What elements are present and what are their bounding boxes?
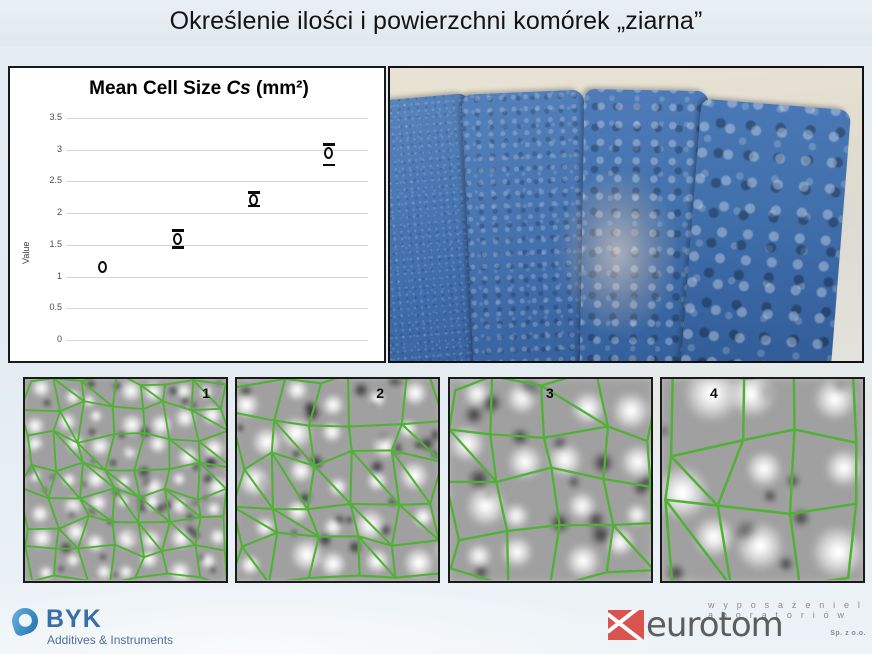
cell-boundary-line: [430, 462, 438, 504]
cell-boundary-line: [321, 379, 348, 383]
chart-title: Mean Cell Size Cs (mm²): [10, 78, 388, 100]
cell-boundary-line: [59, 529, 78, 549]
data-point-marker: [98, 261, 107, 273]
cell-boundary-line: [169, 439, 200, 462]
cell-boundary-line: [665, 500, 672, 580]
cell-boundary-line: [56, 471, 80, 498]
cell-boundary-line: [348, 379, 349, 427]
cell-boundary-line: [196, 517, 201, 545]
cell-boundary-line: [134, 469, 169, 471]
cell-boundary-line: [273, 509, 277, 533]
cell-boundary-line: [105, 434, 114, 470]
cell-boundary-line: [82, 379, 117, 381]
cell-boundary-line: [274, 379, 285, 421]
cell-boundary-line: [350, 451, 351, 504]
cell-boundary-line: [115, 545, 144, 558]
micrograph-panel-2: 2: [235, 377, 440, 583]
cell-boundary-line: [743, 379, 744, 440]
cell-boundary-line: [144, 551, 162, 557]
cell-boundary-line: [141, 385, 166, 386]
micrograph-label-2: 2: [376, 385, 384, 401]
cell-boundary-line: [143, 401, 163, 409]
cell-boundary-line: [718, 440, 744, 506]
cell-boundary-line: [117, 379, 141, 385]
cell-boundary-line: [237, 507, 277, 533]
cell-boundary-line: [201, 517, 224, 518]
cell-boundary-line: [54, 431, 57, 472]
cell-boundary-line: [272, 453, 273, 509]
chart-gridline: [66, 340, 368, 341]
cell-boundary-line: [309, 537, 319, 578]
micrograph-label-1: 1: [202, 385, 210, 401]
cell-boundary-line: [352, 450, 392, 451]
cell-boundary-line: [198, 463, 200, 500]
cell-boundary-line: [237, 547, 242, 580]
cell-boundary-line: [490, 379, 492, 434]
y-axis-tick: 3: [22, 144, 62, 154]
cell-boundary-line: [507, 531, 508, 580]
byk-logo: BYK Additives & Instruments: [10, 604, 250, 650]
cell-boundary-line: [315, 466, 351, 504]
cell-boundary-line: [135, 557, 144, 578]
cell-boundary-line: [140, 489, 165, 498]
cell-boundary-line: [163, 401, 169, 439]
cell-boundary-line: [665, 500, 731, 580]
cell-boundary-line: [647, 379, 651, 441]
cell-boundary-line: [360, 576, 396, 578]
micrograph-label-4: 4: [710, 385, 718, 401]
cell-boundary-line: [165, 469, 170, 489]
cell-boundary-line: [237, 469, 244, 506]
cell-boundary-line: [200, 577, 226, 580]
cell-boundary-line: [25, 487, 28, 530]
cell-boundary-line: [192, 409, 221, 411]
cell-boundary-line: [78, 549, 88, 580]
cell-boundary-line: [54, 549, 56, 576]
cell-boundary-line: [165, 489, 170, 522]
cell-boundary-line: [169, 439, 198, 441]
cell-boundary-line: [272, 421, 274, 453]
cell-boundary-line: [718, 506, 790, 514]
cell-boundary-line: [848, 504, 856, 578]
error-bar-upper-cap: [172, 229, 184, 232]
error-bar-upper-cap: [248, 191, 260, 194]
micrograph-panel-1: 1: [23, 377, 228, 583]
y-axis-tick: 0: [22, 334, 62, 344]
cell-boundary-line: [78, 401, 85, 443]
cell-boundary-line: [451, 569, 509, 581]
cell-boundary-line: [53, 379, 60, 411]
cell-boundary-line: [170, 517, 201, 522]
cell-boundary-line: [163, 401, 192, 410]
cell-boundary-line: [198, 489, 226, 500]
cell-boundary-line: [795, 430, 857, 443]
cell-boundary-line: [170, 463, 200, 470]
cell-boundary-line: [450, 482, 459, 540]
error-bar-upper-cap: [323, 143, 335, 146]
chart-gridline: [66, 245, 368, 246]
cell-boundary-line: [450, 430, 496, 483]
byk-droplet-icon: [9, 605, 42, 638]
cell-boundary-overlay: [662, 379, 863, 580]
cell-boundary-line: [224, 489, 226, 517]
cell-boundary-line: [165, 489, 198, 500]
cell-boundary-line: [496, 468, 551, 482]
cell-boundary-line: [613, 525, 651, 570]
cell-boundary-line: [237, 379, 285, 387]
cell-boundary-line: [349, 427, 352, 452]
cell-boundary-line: [544, 438, 551, 468]
cell-boundary-line: [244, 469, 273, 509]
cell-boundary-line: [274, 421, 309, 426]
cell-boundary-line: [790, 430, 795, 514]
cell-boundary-line: [269, 533, 277, 580]
y-axis-tick: 3.5: [22, 112, 62, 122]
cell-boundary-line: [141, 385, 144, 409]
cell-boundary-line: [451, 540, 459, 568]
cell-boundary-line: [459, 531, 507, 540]
cell-boundary-line: [790, 504, 856, 514]
cell-boundary-line: [193, 380, 226, 384]
cell-boundary-line: [551, 468, 559, 525]
y-axis-tick: 2.5: [22, 175, 62, 185]
cell-boundary-line: [80, 488, 115, 498]
error-bar-lower-cap: [248, 205, 260, 208]
cell-boundary-line: [138, 522, 170, 523]
cell-boundary-line: [349, 424, 402, 426]
cell-boundary-line: [671, 440, 743, 456]
cell-boundary-line: [110, 578, 135, 580]
cell-boundary-line: [550, 525, 560, 580]
cell-boundary-line: [56, 529, 59, 549]
cell-boundary-line: [794, 379, 795, 430]
cell-boundary-line: [54, 411, 61, 431]
cell-boundary-line: [603, 479, 650, 487]
chart-title-symbol: Cs: [226, 78, 250, 99]
eurotom-wordmark: eurotom: [646, 605, 783, 645]
chart-gridline: [66, 118, 368, 119]
cell-boundary-line: [450, 391, 455, 430]
cell-boundary-line: [48, 498, 59, 528]
cell-boundary-line: [54, 575, 88, 580]
cell-boundary-line: [192, 410, 226, 430]
cell-boundary-line: [25, 546, 32, 580]
cell-boundary-line: [551, 468, 603, 479]
y-axis-tick: 2: [22, 207, 62, 217]
chart-plot-area: 00.511.522.533.5Sample1Sample2Sample3Sam…: [66, 118, 368, 340]
cell-boundary-line: [402, 421, 438, 424]
cell-boundary-line: [242, 547, 269, 580]
y-axis-tick: 1.5: [22, 239, 62, 249]
coating-plate-2: [462, 89, 597, 363]
chart-panel: Mean Cell Size Cs (mm²) Value 00.511.522…: [8, 66, 386, 363]
chart-title-main: Mean Cell Size: [89, 78, 226, 99]
cell-boundary-line: [225, 551, 226, 580]
plate-4-texture: [679, 99, 851, 363]
cell-boundary-line: [138, 497, 140, 522]
cell-boundary-line: [309, 383, 321, 425]
cell-boundary-line: [162, 545, 196, 551]
page-title: Określenie ilości i powierzchni komórek …: [0, 7, 872, 36]
cell-boundary-line: [308, 466, 315, 509]
y-axis-tick: 1: [22, 271, 62, 281]
cell-boundary-line: [392, 505, 400, 546]
chart-gridline: [66, 213, 368, 214]
cell-boundary-line: [607, 525, 614, 572]
plate-2-texture: [462, 89, 597, 363]
cell-boundary-line: [309, 426, 349, 427]
cell-boundary-line: [25, 465, 32, 487]
cell-boundary-line: [429, 379, 438, 421]
cell-boundary-line: [48, 471, 56, 498]
cell-boundary-overlay: [25, 379, 226, 580]
cell-boundary-line: [671, 379, 673, 456]
cell-boundary-line: [167, 574, 200, 578]
cell-boundary-line: [221, 384, 226, 408]
cell-boundary-line: [114, 433, 144, 434]
cell-boundary-line: [82, 381, 85, 401]
cell-boundary-line: [492, 379, 541, 386]
cell-boundary-line: [192, 380, 194, 410]
cell-boundary-line: [196, 545, 201, 577]
cell-boundary-overlay: [237, 379, 438, 580]
cell-boundary-line: [25, 410, 60, 411]
cell-boundary-line: [141, 385, 163, 401]
cell-boundary-line: [718, 506, 731, 580]
cell-boundary-line: [192, 410, 199, 441]
data-point-marker: [173, 233, 182, 245]
cell-boundary-line: [285, 379, 321, 383]
data-point-marker: [324, 147, 333, 159]
cell-boundary-line: [237, 507, 273, 509]
cell-boundary-line: [25, 546, 56, 549]
cell-boundary-line: [603, 479, 613, 525]
cell-boundary-line: [78, 545, 115, 549]
cell-boundary-line: [242, 533, 277, 547]
cell-boundary-line: [507, 525, 559, 531]
cell-boundary-overlay: [450, 379, 651, 580]
cell-boundary-line: [165, 489, 201, 517]
micrograph-label-3: 3: [546, 385, 554, 401]
cell-boundary-line: [145, 433, 170, 439]
cell-boundary-line: [162, 522, 170, 551]
cell-boundary-line: [31, 379, 53, 381]
chart-data-point: [96, 256, 112, 278]
cell-boundary-line: [112, 522, 138, 523]
micrograph-panel-4: 4: [660, 377, 865, 583]
cell-boundary-line: [83, 463, 115, 489]
cell-boundary-line: [608, 427, 647, 442]
cell-boundary-line: [162, 551, 168, 574]
cell-boundary-line: [110, 545, 115, 580]
cell-boundary-line: [541, 386, 544, 438]
cell-boundary-line: [309, 576, 360, 578]
cell-boundary-line: [550, 572, 607, 580]
cell-boundary-line: [165, 380, 193, 385]
cell-boundary-line: [196, 545, 225, 551]
chart-gridline: [66, 181, 368, 182]
cell-boundary-line: [496, 482, 507, 531]
cell-boundary-line: [112, 522, 115, 545]
cell-boundary-line: [25, 410, 28, 436]
chart-data-point: [322, 142, 338, 164]
cell-boundary-line: [60, 401, 84, 411]
cell-boundary-line: [32, 575, 54, 580]
coating-panels-photo: 1 2 3 4: [388, 66, 864, 363]
eurotom-logo: w y p o s a ż e n i e l a b o r a t o r …: [608, 600, 866, 650]
cell-boundary-line: [671, 456, 718, 505]
cell-boundary-line: [28, 436, 32, 465]
cell-boundary-line: [237, 412, 274, 421]
cell-boundary-line: [392, 424, 402, 450]
cell-boundary-line: [402, 379, 407, 424]
cell-boundary-line: [25, 381, 31, 410]
cell-boundary-line: [237, 412, 244, 470]
cell-boundary-line: [613, 523, 651, 525]
cell-boundary-line: [28, 529, 59, 530]
cell-boundary-line: [647, 441, 650, 487]
error-bar-lower-cap: [172, 246, 184, 249]
cell-boundary-line: [56, 463, 83, 472]
y-axis-tick: 0.5: [22, 302, 62, 312]
cell-boundary-line: [853, 379, 857, 443]
cell-boundary-line: [315, 451, 352, 466]
cell-boundary-line: [80, 463, 83, 499]
eurotom-suffix: Sp. z o.o.: [830, 630, 866, 637]
eurotom-mark-icon: [608, 610, 644, 640]
chart-data-point: [171, 228, 187, 250]
coating-plate-4: [679, 99, 851, 363]
cell-boundary-line: [490, 434, 544, 438]
cell-boundary-line: [665, 456, 671, 499]
cell-boundary-line: [113, 379, 117, 407]
chart-gridline: [66, 308, 368, 309]
cell-boundary-line: [78, 434, 115, 443]
cell-boundary-line: [350, 504, 399, 505]
cell-boundary-line: [28, 431, 54, 436]
cell-boundary-line: [224, 517, 225, 551]
cell-boundary-line: [607, 570, 651, 572]
cell-boundary-line: [112, 488, 114, 522]
cell-boundary-line: [790, 514, 800, 580]
cell-boundary-line: [358, 536, 359, 575]
cell-boundary-line: [308, 504, 351, 509]
cell-boundary-line: [269, 578, 309, 580]
cell-boundary-line: [140, 497, 170, 522]
cell-boundary-line: [163, 385, 165, 402]
cell-boundary-line: [399, 504, 430, 505]
cell-boundary-line: [743, 430, 794, 441]
chart-title-unit: (mm²): [251, 78, 309, 99]
chart-data-point: [247, 189, 263, 211]
cell-boundary-line: [395, 573, 438, 577]
micrograph-panel-3: 3: [448, 377, 653, 583]
cell-boundary-line: [665, 500, 717, 506]
cell-boundary-line: [113, 407, 115, 435]
cell-boundary-line: [800, 578, 849, 580]
error-bar-lower-cap: [323, 164, 335, 167]
cell-boundary-line: [199, 441, 200, 462]
cell-boundary-line: [244, 453, 271, 470]
cell-boundary-line: [455, 379, 492, 391]
cell-boundary-line: [199, 431, 226, 442]
cell-boundary-line: [392, 540, 438, 546]
cell-boundary-line: [25, 529, 27, 546]
byk-tagline: Additives & Instruments: [47, 633, 173, 647]
cell-boundary-line: [134, 433, 145, 471]
cell-boundary-line: [450, 430, 490, 435]
cell-boundary-line: [603, 427, 608, 479]
cell-boundary-line: [544, 427, 608, 438]
cell-boundary-line: [135, 574, 167, 578]
cell-boundary-line: [170, 522, 196, 545]
byk-wordmark: BYK: [46, 605, 102, 634]
cell-boundary-line: [143, 409, 145, 433]
cell-boundary-line: [113, 407, 144, 410]
